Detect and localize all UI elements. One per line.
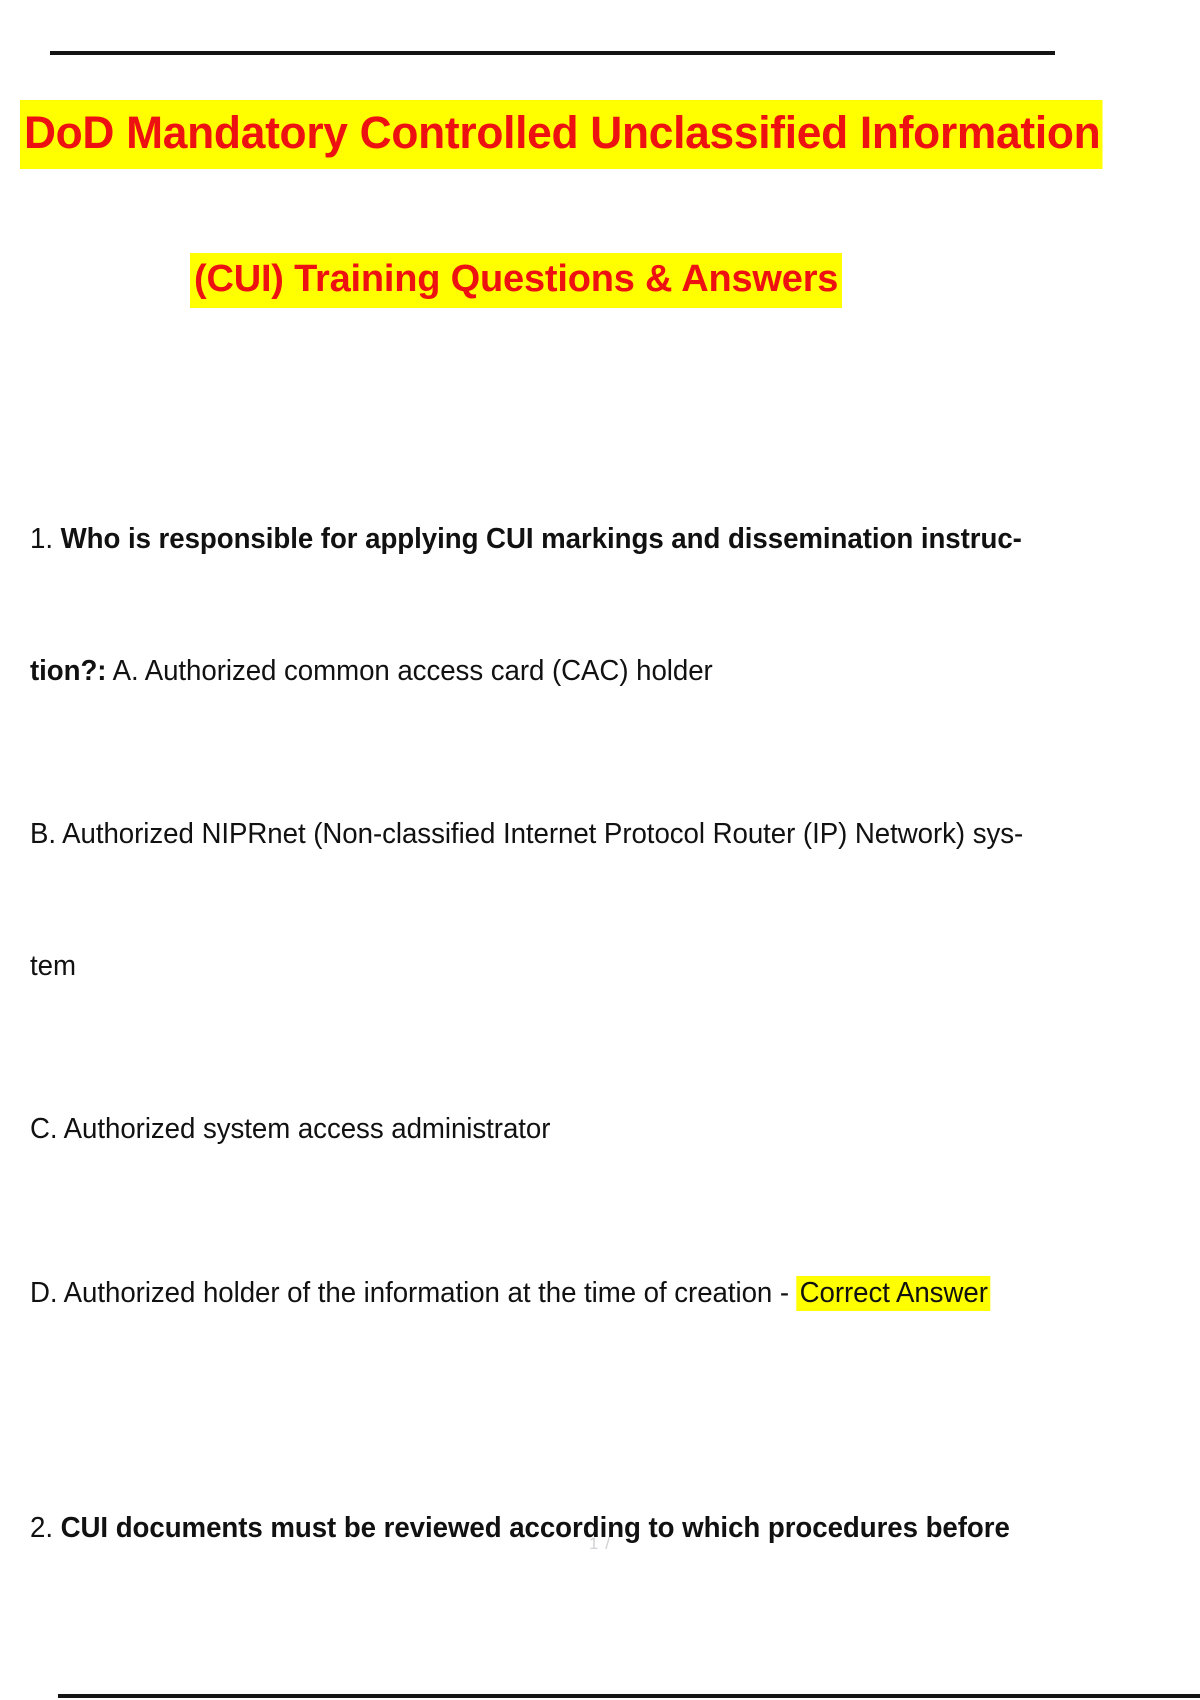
- question-1-number: 1.: [30, 523, 53, 555]
- document-body: 1. Who is responsible for applying CUI m…: [30, 525, 1200, 1543]
- header-divider: [50, 51, 1055, 55]
- question-1-option-b-continued: tem: [30, 952, 1165, 981]
- line-gap: [30, 1144, 1200, 1279]
- line-gap: [30, 849, 1200, 952]
- question-1-stem-line-1: 1. Who is responsible for applying CUI m…: [30, 525, 1165, 554]
- page-number-marker: 1 /: [0, 1534, 1200, 1554]
- footer-divider: [58, 1694, 1200, 1698]
- line-gap: [30, 685, 1200, 820]
- document-page: DoD Mandatory Controlled Unclassified In…: [0, 0, 1200, 1700]
- line-gap: [30, 554, 1200, 657]
- title-block: DoD Mandatory Controlled Unclassified In…: [0, 100, 1200, 320]
- question-1-option-a: A. Authorized common access card (CAC) h…: [113, 655, 713, 687]
- question-1-stem-line-2: tion?: A. Authorized common access card …: [30, 657, 1165, 686]
- question-1-option-b: B. Authorized NIPRnet (Non-classified In…: [30, 820, 1165, 849]
- question-1-option-c: C. Authorized system access administrato…: [30, 1115, 1165, 1144]
- section-gap: [30, 1307, 1200, 1514]
- question-1-option-d: D. Authorized holder of the information …: [30, 1279, 1165, 1308]
- correct-answer-badge: Correct Answer: [797, 1276, 990, 1311]
- line-gap: [30, 980, 1200, 1115]
- page-subtitle: (CUI) Training Questions & Answers: [190, 253, 842, 308]
- page-title: DoD Mandatory Controlled Unclassified In…: [20, 100, 1102, 169]
- question-1-stem-text-1: Who is responsible for applying CUI mark…: [61, 523, 1022, 555]
- question-1-option-d-text: D. Authorized holder of the information …: [30, 1277, 797, 1309]
- question-1-stem-text-2: tion?:: [30, 655, 106, 687]
